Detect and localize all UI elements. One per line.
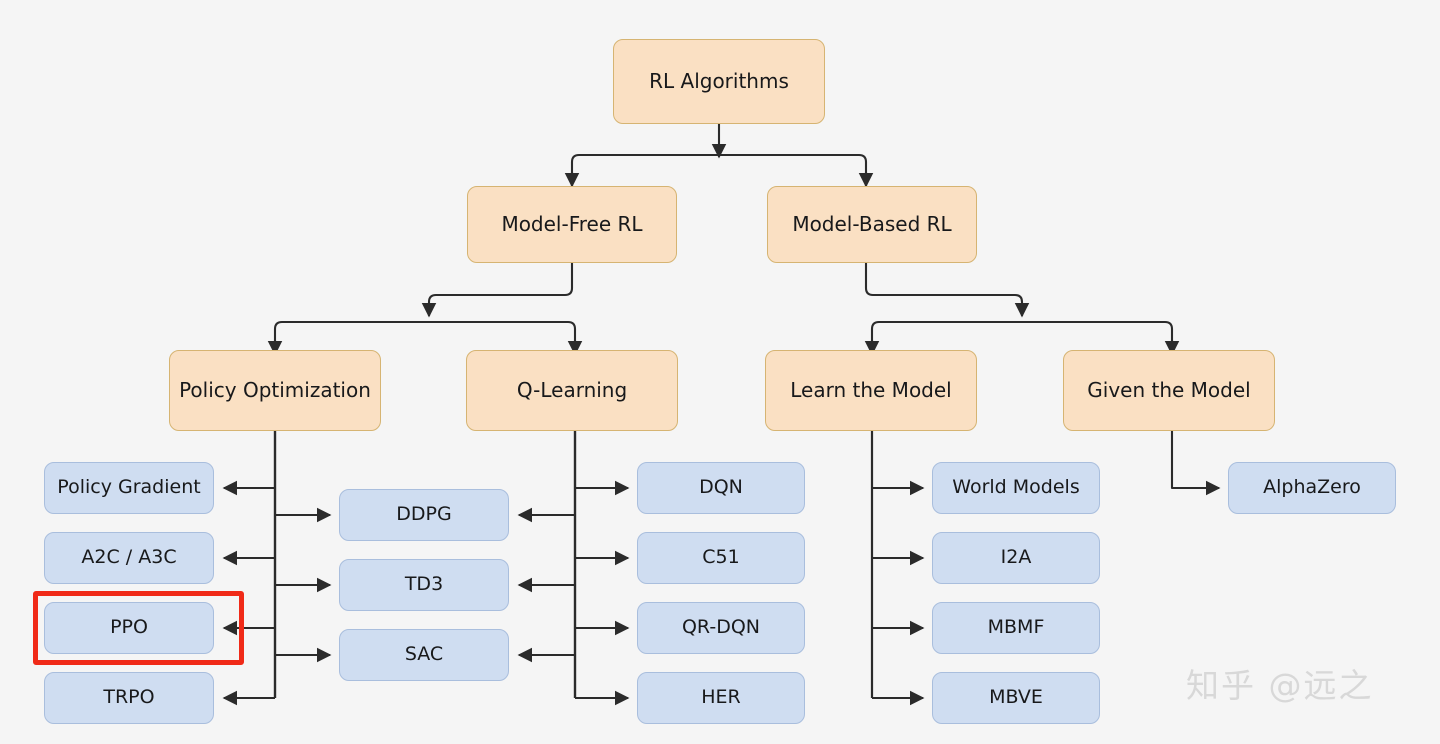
- node-label: SAC: [405, 644, 443, 666]
- node-label: A2C / A3C: [81, 547, 176, 569]
- ppo-highlight-box: [33, 591, 244, 665]
- node-label: TD3: [405, 574, 443, 596]
- node-model-based-rl[interactable]: Model-Based RL: [767, 186, 977, 263]
- node-rl-algorithms[interactable]: RL Algorithms: [613, 39, 825, 124]
- node-label: Learn the Model: [790, 379, 951, 402]
- node-policy-optimization[interactable]: Policy Optimization: [169, 350, 381, 431]
- node-i2a[interactable]: I2A: [932, 532, 1100, 584]
- node-her[interactable]: HER: [637, 672, 805, 724]
- node-trpo[interactable]: TRPO: [44, 672, 214, 724]
- node-label: Policy Optimization: [179, 379, 371, 402]
- node-c51[interactable]: C51: [637, 532, 805, 584]
- node-ddpg[interactable]: DDPG: [339, 489, 509, 541]
- node-dqn[interactable]: DQN: [637, 462, 805, 514]
- node-label: I2A: [1001, 547, 1032, 569]
- node-label: MBVE: [989, 687, 1043, 709]
- node-given-the-model[interactable]: Given the Model: [1063, 350, 1275, 431]
- node-a2c-a3c[interactable]: A2C / A3C: [44, 532, 214, 584]
- node-label: TRPO: [103, 687, 154, 709]
- node-label: DQN: [699, 477, 743, 499]
- node-label: Model-Based RL: [792, 213, 951, 236]
- node-qr-dqn[interactable]: QR-DQN: [637, 602, 805, 654]
- node-label: C51: [702, 547, 739, 569]
- node-world-models[interactable]: World Models: [932, 462, 1100, 514]
- node-label: MBMF: [988, 617, 1045, 639]
- node-label: Q-Learning: [517, 379, 627, 402]
- node-mbmf[interactable]: MBMF: [932, 602, 1100, 654]
- edge-model-based-drop: [866, 263, 1022, 316]
- diagram-canvas: RL Algorithms Model-Free RL Model-Based …: [0, 0, 1440, 744]
- edge-root-bus: [572, 155, 866, 186]
- node-label: Model-Free RL: [501, 213, 642, 236]
- node-label: RL Algorithms: [649, 70, 789, 93]
- node-label: DDPG: [396, 504, 451, 526]
- node-label: Given the Model: [1087, 379, 1250, 402]
- node-label: Policy Gradient: [57, 477, 200, 499]
- edge-model-free-drop: [429, 263, 572, 316]
- node-q-learning[interactable]: Q-Learning: [466, 350, 678, 431]
- node-label: AlphaZero: [1263, 477, 1361, 499]
- node-sac[interactable]: SAC: [339, 629, 509, 681]
- node-policy-gradient[interactable]: Policy Gradient: [44, 462, 214, 514]
- node-alphazero[interactable]: AlphaZero: [1228, 462, 1396, 514]
- node-model-free-rl[interactable]: Model-Free RL: [467, 186, 677, 263]
- node-label: QR-DQN: [682, 617, 760, 639]
- node-label: World Models: [952, 477, 1079, 499]
- watermark: 知乎 @远之: [1186, 659, 1374, 707]
- edge-gtm-alphazero: [1172, 431, 1219, 488]
- node-td3[interactable]: TD3: [339, 559, 509, 611]
- node-label: HER: [701, 687, 741, 709]
- node-mbve[interactable]: MBVE: [932, 672, 1100, 724]
- node-learn-the-model[interactable]: Learn the Model: [765, 350, 977, 431]
